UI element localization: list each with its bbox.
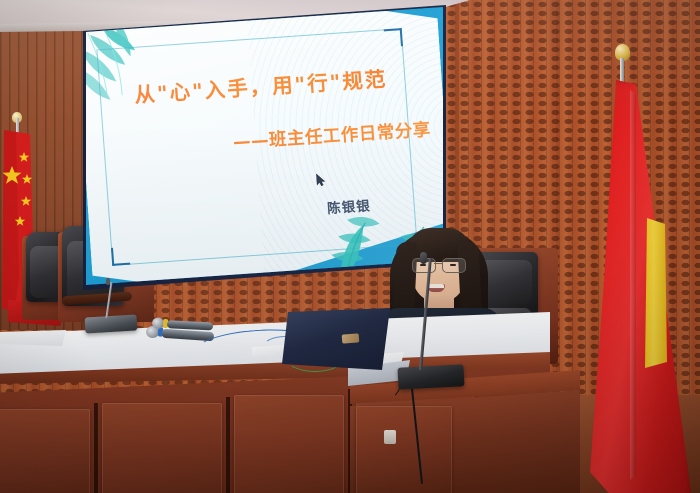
corner-bracket-icon: [384, 28, 403, 47]
laptop-logo: [342, 333, 360, 343]
microphone-capsule-left: [106, 278, 110, 285]
flag-cloth-right: [584, 80, 694, 493]
laptop-lid: [282, 308, 390, 370]
glasses-bridge: [434, 263, 442, 264]
chinese-flag-right: [560, 40, 700, 493]
microphone-base-left: [85, 314, 138, 333]
glasses-lens-right: [442, 258, 466, 273]
desk-label-plate: [384, 430, 396, 444]
teeth: [428, 284, 444, 288]
corner-bracket-icon: [111, 247, 130, 266]
papers: [0, 330, 66, 346]
conference-room-photo: 从"心"入手，用"行"规范 ——班主任工作日常分享 陈银银: [0, 0, 700, 493]
microphone-capsule-presenter: [420, 252, 427, 264]
flag-fold-highlight: [630, 90, 636, 480]
presenter-desk-front: [350, 390, 580, 493]
eye-left: [420, 264, 426, 266]
flag-yellow-band: [645, 218, 667, 368]
mouse-pointer-arrow-icon: [316, 173, 326, 187]
microphone-base-presenter: [397, 364, 464, 389]
eye-right: [450, 264, 456, 266]
laptop: [282, 308, 392, 380]
